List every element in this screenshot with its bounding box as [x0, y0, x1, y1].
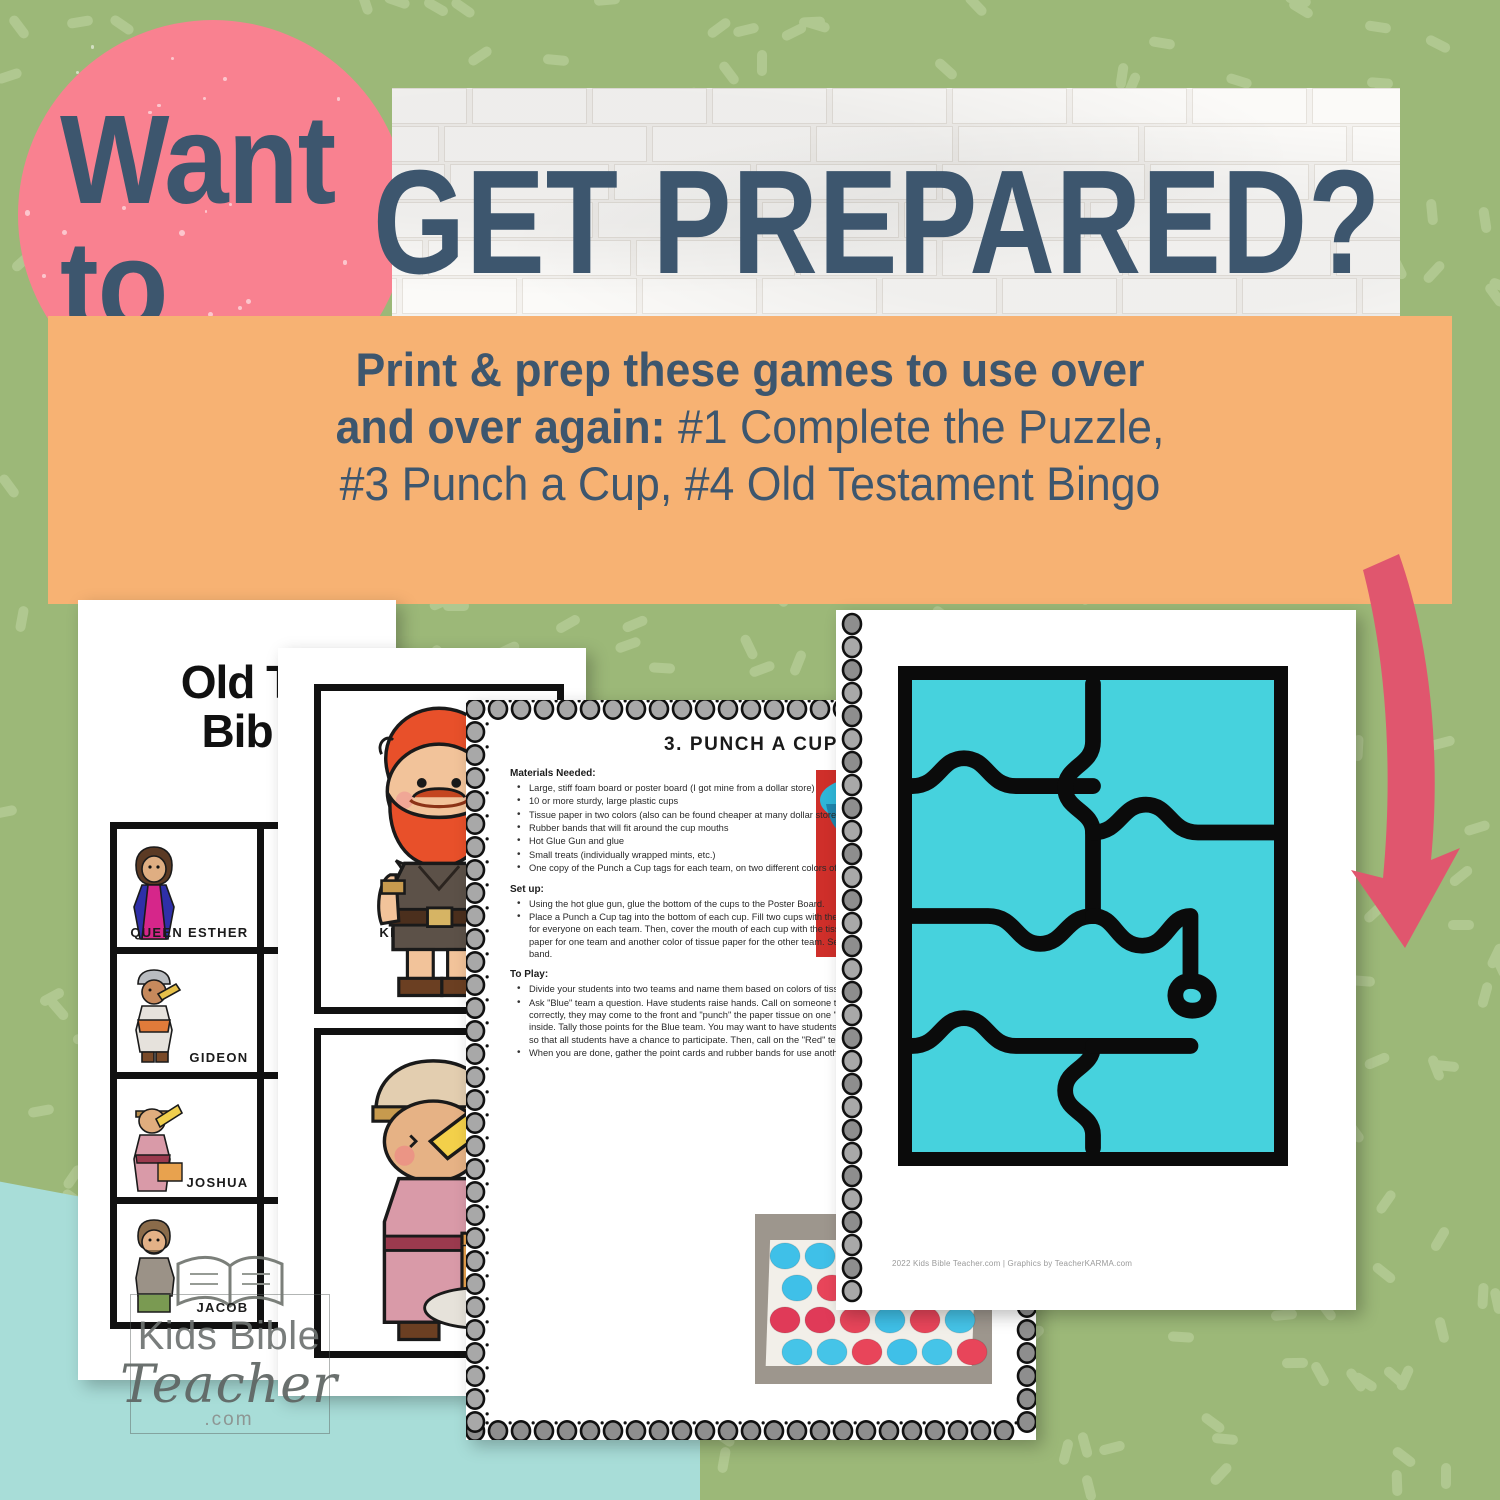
dash-mark	[109, 13, 136, 36]
bingo-cell: QUEEN ESTHER	[117, 829, 257, 947]
dash-mark	[1148, 36, 1175, 50]
banner-light-rest-1: #1 Complete the Puzzle,	[666, 400, 1165, 453]
dash-mark	[1375, 1188, 1398, 1215]
dash-mark	[614, 636, 642, 654]
dash-mark	[1424, 33, 1452, 54]
brick	[392, 88, 467, 124]
dash-mark	[0, 805, 18, 820]
brick	[1312, 88, 1400, 124]
banner-bold-line-2: and over again:	[336, 400, 666, 453]
circle-speck	[91, 45, 95, 49]
bingo-cell-label: JACOB	[196, 1301, 248, 1316]
puzzle-frame	[898, 666, 1288, 1166]
page-title: Want to GET PREPARED?	[48, 128, 1408, 318]
dash-mark	[1309, 1360, 1330, 1388]
bingo-cell-label: GIDEON	[189, 1051, 248, 1066]
dash-mark	[733, 22, 761, 38]
brick	[1192, 88, 1307, 124]
circle-speck	[337, 97, 341, 101]
dash-mark	[422, 0, 450, 18]
puzzle-copyright: 2022 Kids Bible Teacher.com | Graphics b…	[892, 1259, 1336, 1268]
dash-mark	[1441, 1463, 1451, 1489]
circle-speck	[76, 71, 79, 74]
dash-mark	[1430, 1225, 1452, 1252]
pink-arrow	[1255, 548, 1460, 1088]
dash-mark	[450, 0, 477, 20]
banner-text: Print & prep these games to use over and…	[115, 342, 1384, 513]
dash-mark	[1477, 981, 1494, 1009]
dash-mark	[1168, 1331, 1195, 1343]
dash-mark	[1370, 1261, 1397, 1285]
dash-mark	[1425, 199, 1438, 226]
dash-mark	[757, 50, 767, 76]
headline-block: GET PREPARED?	[373, 149, 1381, 297]
brick	[832, 88, 947, 124]
dash-mark	[1199, 1411, 1226, 1434]
dash-mark	[739, 633, 759, 661]
dash-mark	[466, 44, 493, 67]
dash-mark	[1489, 1287, 1500, 1315]
kids-bible-teacher-watermark: Kids Bible Teacher .com	[118, 1248, 340, 1448]
dash-mark	[748, 659, 776, 677]
brick-row	[392, 88, 1400, 124]
dash-mark	[1391, 1470, 1402, 1496]
dash-mark	[1351, 1371, 1378, 1393]
puzzle-pieces-art	[912, 680, 1274, 1152]
dash-mark	[789, 649, 808, 677]
poster-canvas: Want to GET PREPARED? Print & prep these…	[0, 0, 1500, 1500]
dash-mark	[384, 0, 412, 10]
dash-mark	[1282, 1358, 1308, 1369]
dash-mark	[543, 54, 570, 66]
bingo-figure-joshua-trumpet-walls	[123, 1089, 185, 1193]
dash-mark	[1477, 1282, 1488, 1309]
dash-mark	[1434, 1317, 1450, 1345]
dash-mark	[1390, 1445, 1417, 1469]
bingo-cell: GIDEON	[117, 954, 257, 1072]
dash-mark	[356, 0, 374, 15]
dash-mark	[1077, 1432, 1093, 1460]
dash-mark	[1421, 259, 1446, 285]
dash-mark	[1058, 1438, 1074, 1466]
dash-mark	[649, 662, 676, 673]
dash-mark	[27, 1104, 54, 1118]
dash-mark	[554, 613, 582, 635]
dash-mark	[933, 56, 959, 81]
dash-mark	[1081, 1474, 1097, 1500]
dash-mark	[706, 16, 733, 40]
dash-mark	[66, 15, 93, 29]
dash-mark	[1098, 1440, 1126, 1456]
brick	[712, 88, 827, 124]
bingo-figure-gideon-trumpet	[123, 964, 185, 1068]
dash-mark	[1209, 1461, 1234, 1487]
dash-mark	[717, 60, 741, 87]
banner-light-line-2: #3 Punch a Cup, #4 Old Testament Bingo	[340, 457, 1161, 510]
bingo-cell-label: QUEEN ESTHER	[130, 926, 248, 941]
dash-mark	[716, 1447, 730, 1474]
dash-mark	[8, 13, 32, 40]
dash-mark	[1395, 1364, 1415, 1392]
orange-banner: Print & prep these games to use over and…	[48, 316, 1452, 604]
brick	[592, 88, 707, 124]
dash-mark	[14, 606, 29, 633]
dash-mark	[1270, 1309, 1297, 1321]
circle-speck	[42, 274, 46, 278]
dash-mark	[1364, 20, 1391, 34]
headline-script: Want to	[60, 97, 335, 349]
brick	[472, 88, 587, 124]
bingo-cell-label: JOSHUA	[187, 1176, 249, 1191]
dash-mark	[1212, 1433, 1239, 1445]
brick	[952, 88, 1067, 124]
circle-speck	[171, 57, 174, 60]
dash-mark	[963, 0, 988, 18]
dash-mark	[0, 67, 23, 85]
bingo-cell-label: KI	[379, 926, 395, 941]
circle-speck	[25, 210, 30, 215]
bingo-cell: JOSHUA	[117, 1079, 257, 1197]
circle-speck	[223, 77, 227, 81]
brick	[1072, 88, 1187, 124]
dash-mark	[594, 0, 621, 6]
dash-mark	[621, 614, 649, 633]
dash-mark	[0, 473, 21, 500]
dash-mark	[1463, 819, 1491, 836]
dash-mark	[780, 22, 808, 43]
dash-mark	[1478, 206, 1492, 233]
banner-bold-line-1: Print & prep these games to use over	[355, 343, 1144, 396]
